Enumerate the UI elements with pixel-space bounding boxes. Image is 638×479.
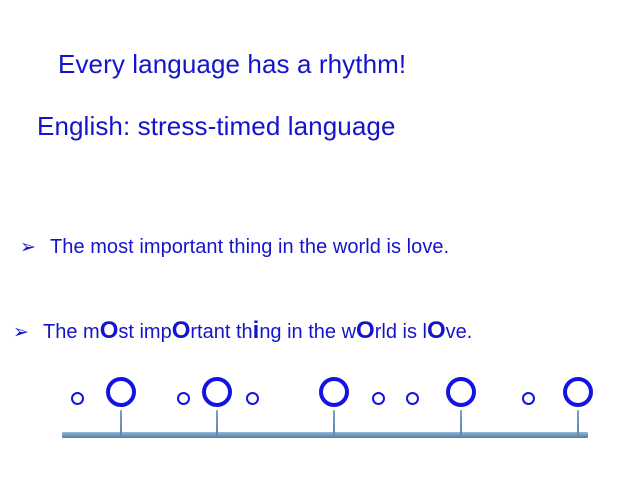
- stressed-beat-circle: [319, 377, 349, 407]
- arrow-bullet-icon: ➢: [20, 235, 50, 261]
- unstressed-beat-circle: [522, 392, 535, 405]
- unstressed-text: rld is l: [375, 321, 427, 343]
- bullet-item-2-text: The mOst impOrtant thing in the wOrld is…: [43, 318, 472, 345]
- unstressed-beat-circle: [71, 392, 84, 405]
- stressed-beat-circle: [202, 377, 232, 407]
- stressed-vowel: O: [356, 317, 375, 344]
- unstressed-text: ng in the w: [259, 321, 356, 343]
- beat-tick: [120, 410, 122, 436]
- bullet-item-1-text: The most important thing in the world is…: [50, 234, 449, 260]
- unstressed-text: rtant th: [190, 321, 252, 343]
- page-title: Every language has a rhythm!: [58, 48, 406, 80]
- unstressed-text: The m: [43, 321, 100, 343]
- stressed-vowel: O: [172, 317, 191, 344]
- stressed-beat-circle: [563, 377, 593, 407]
- beat-tick: [216, 410, 218, 436]
- slide-canvas: Every language has a rhythm! English: st…: [0, 0, 638, 479]
- timeline-bar: [62, 432, 588, 438]
- beat-tick: [460, 410, 462, 436]
- stressed-vowel: O: [427, 317, 446, 344]
- stressed-beat-circle: [446, 377, 476, 407]
- bullet-item-1: ➢ The most important thing in the world …: [20, 234, 449, 261]
- page-subtitle: English: stress-timed language: [37, 110, 396, 142]
- arrow-bullet-icon: ➢: [13, 320, 43, 346]
- stressed-beat-circle: [106, 377, 136, 407]
- unstressed-text: ve.: [446, 321, 473, 343]
- unstressed-beat-circle: [246, 392, 259, 405]
- unstressed-beat-circle: [372, 392, 385, 405]
- unstressed-beat-circle: [177, 392, 190, 405]
- stressed-vowel: O: [100, 317, 119, 344]
- beat-tick: [577, 410, 579, 436]
- rhythm-diagram: [0, 362, 638, 452]
- unstressed-beat-circle: [406, 392, 419, 405]
- beat-tick: [333, 410, 335, 436]
- bullet-item-2: ➢ The mOst impOrtant thing in the wOrld …: [13, 318, 472, 346]
- unstressed-text: st imp: [118, 321, 171, 343]
